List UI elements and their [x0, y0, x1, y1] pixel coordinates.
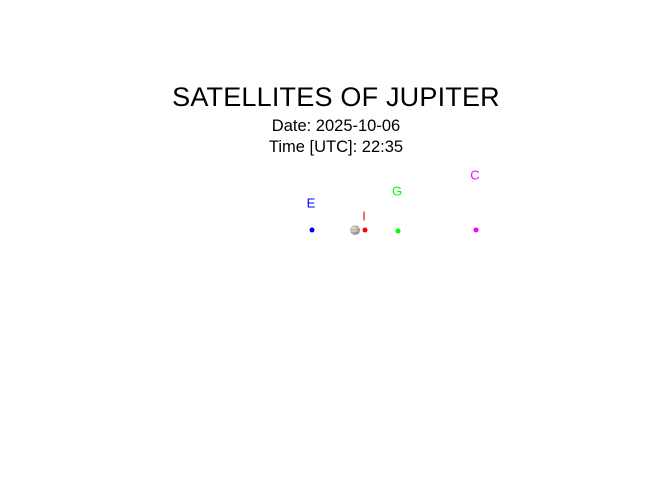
moon-label-io: I [362, 210, 366, 223]
moon-positions-diagram: EIGC [0, 0, 672, 480]
moon-dot-europa [310, 228, 315, 233]
moon-label-ganymede: G [392, 185, 402, 198]
satellites-of-jupiter-figure: SATELLITES OF JUPITER Date: 2025-10-06 T… [0, 0, 672, 480]
moon-label-callisto: C [470, 169, 479, 182]
moon-dot-io [363, 228, 368, 233]
moon-dot-ganymede [396, 229, 401, 234]
moon-dot-callisto [474, 228, 479, 233]
jupiter-disk [350, 225, 360, 235]
moon-label-europa: E [307, 197, 316, 210]
